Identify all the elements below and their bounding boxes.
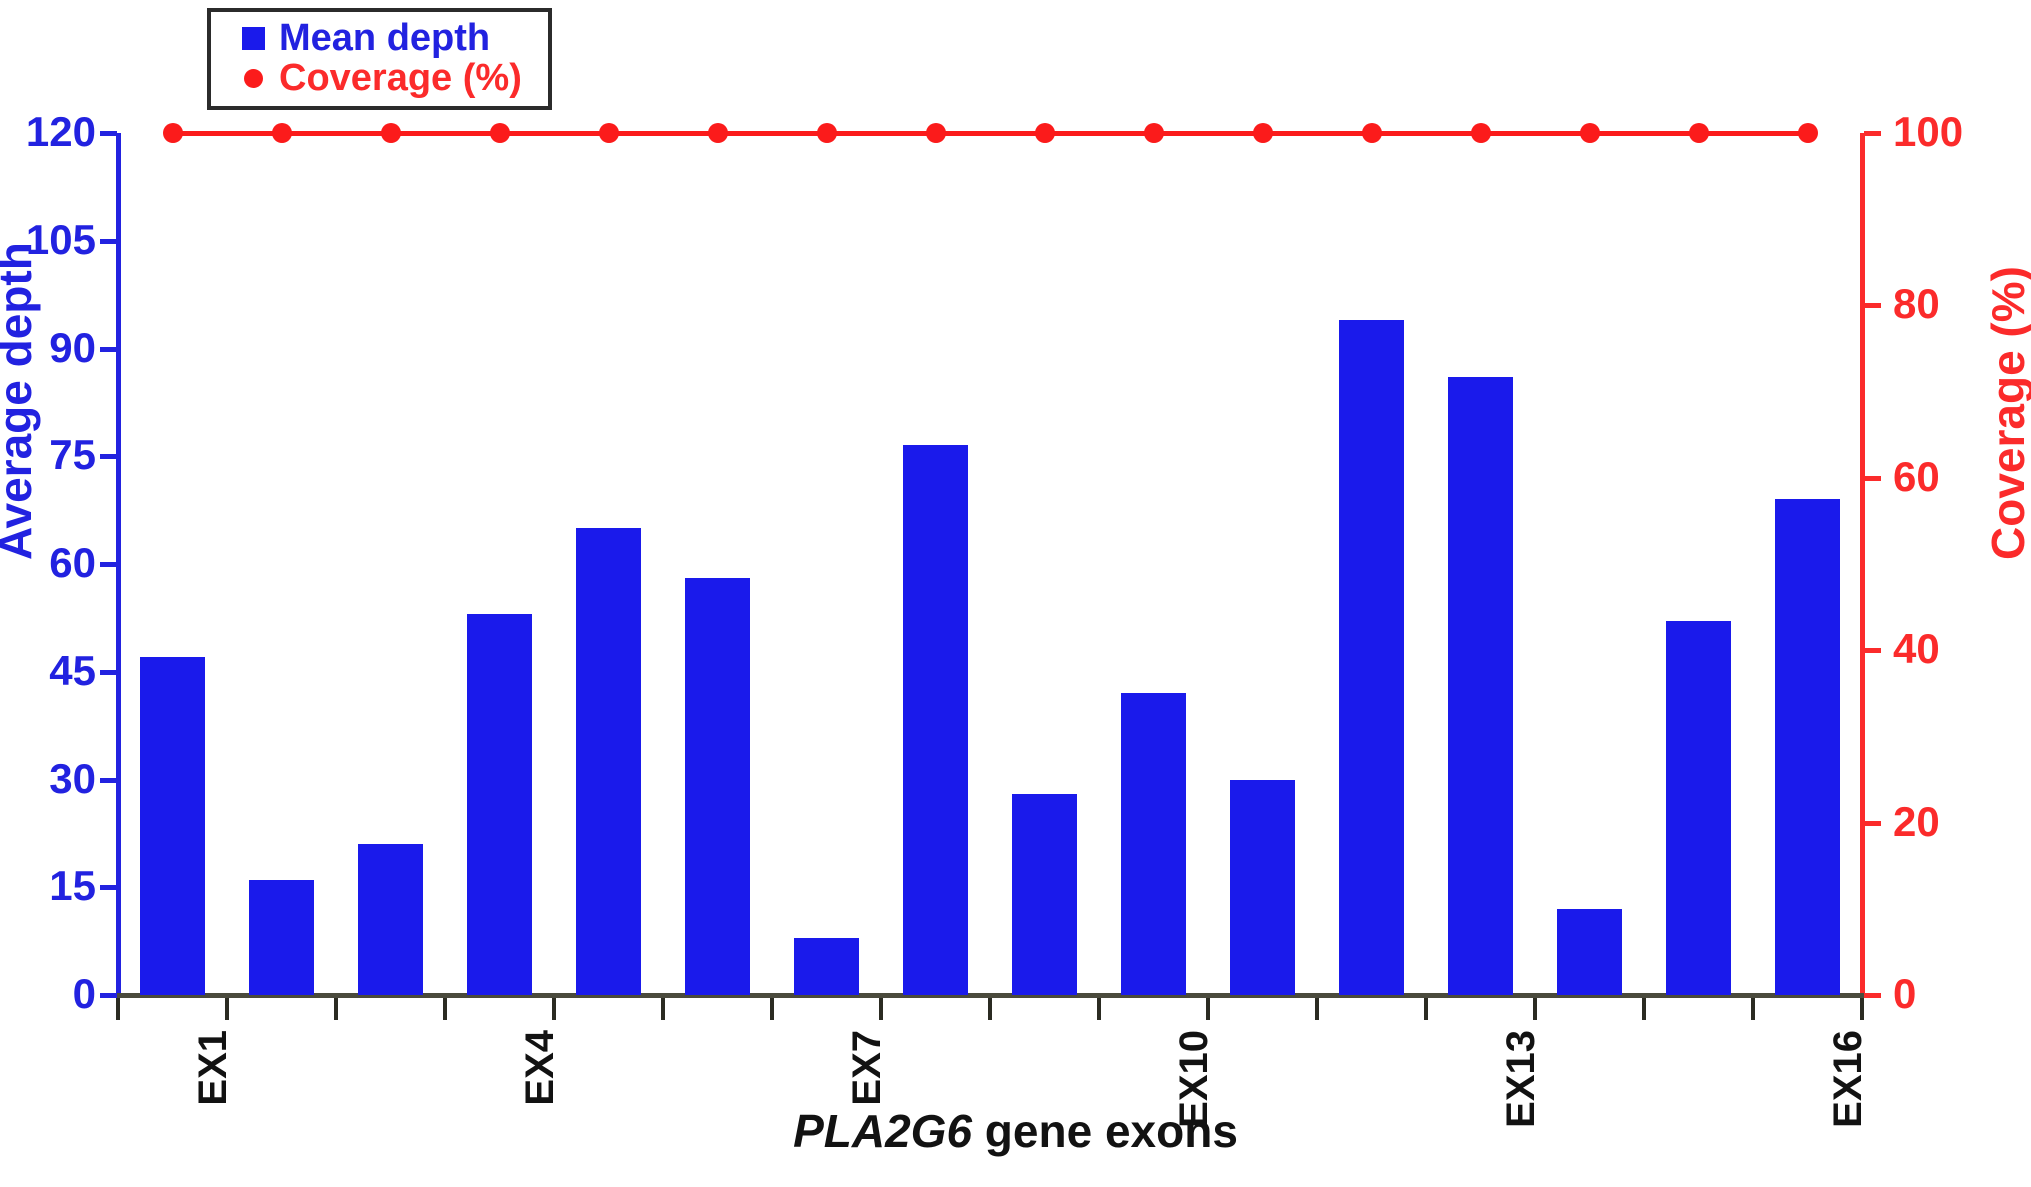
left-axis-tick — [100, 454, 117, 459]
left-axis-tick-label: 30 — [0, 758, 96, 800]
bar — [249, 880, 314, 995]
coverage-data-point — [708, 123, 728, 143]
coverage-data-point — [1362, 123, 1382, 143]
right-axis-tick — [1864, 821, 1881, 826]
x-axis-tick-label: EX4 — [520, 1030, 560, 1106]
bar — [1121, 693, 1186, 995]
right-axis-tick — [1864, 303, 1881, 308]
coverage-data-point — [272, 123, 292, 143]
coverage-line-segment — [1263, 131, 1372, 136]
bar — [1339, 320, 1404, 995]
left-axis-tick — [100, 131, 117, 136]
coverage-data-point — [1798, 123, 1818, 143]
bar — [1557, 909, 1622, 995]
x-axis-tick-label: EX1 — [193, 1030, 233, 1106]
left-axis-tick — [100, 993, 117, 998]
x-axis-tick — [225, 998, 229, 1020]
left-axis-tick-label: 0 — [0, 973, 96, 1015]
coverage-line-segment — [1481, 131, 1590, 136]
coverage-line-segment — [282, 131, 391, 136]
right-axis-tick-label: 80 — [1893, 283, 1940, 325]
bar — [1775, 499, 1840, 995]
coverage-line-segment — [173, 131, 282, 136]
x-axis-title-gene: PLA2G6 — [793, 1105, 972, 1157]
left-axis-tick-label: 120 — [0, 111, 96, 153]
legend-label-coverage: Coverage (%) — [279, 59, 522, 97]
chart-figure: Mean depth Coverage (%) 0153045607590105… — [0, 0, 2031, 1187]
right-axis-title: Coverage (%) — [1985, 266, 2031, 560]
x-axis-tick — [1424, 998, 1428, 1020]
coverage-data-point — [163, 123, 183, 143]
bar — [467, 614, 532, 995]
coverage-data-point — [817, 123, 837, 143]
x-axis-tick — [1206, 998, 1210, 1020]
legend-label-mean-depth: Mean depth — [279, 19, 490, 57]
bar — [1230, 780, 1295, 996]
right-axis-tick-label: 40 — [1893, 628, 1940, 670]
coverage-data-point — [599, 123, 619, 143]
coverage-data-point — [1144, 123, 1164, 143]
left-axis-tick — [100, 778, 117, 783]
bar — [358, 844, 423, 995]
right-axis-tick — [1864, 131, 1881, 136]
x-axis-tick — [1315, 998, 1319, 1020]
bar — [140, 657, 205, 995]
legend-item-mean-depth: Mean depth — [227, 18, 522, 58]
bar — [576, 528, 641, 995]
coverage-line-segment — [1045, 131, 1154, 136]
x-axis-tick — [443, 998, 447, 1020]
bar — [794, 938, 859, 995]
legend-item-coverage: Coverage (%) — [227, 58, 522, 98]
x-axis-tick — [1097, 998, 1101, 1020]
bar — [1666, 621, 1731, 995]
x-axis-tick — [552, 998, 556, 1020]
right-axis-tick — [1864, 648, 1881, 653]
coverage-line-segment — [500, 131, 609, 136]
left-axis-tick — [100, 239, 117, 244]
coverage-line-segment — [936, 131, 1045, 136]
bar — [685, 578, 750, 995]
coverage-line-segment — [827, 131, 936, 136]
coverage-line-segment — [1372, 131, 1481, 136]
right-axis-tick-label: 0 — [1893, 973, 1916, 1015]
square-marker-icon — [227, 27, 279, 50]
x-axis-tick — [879, 998, 883, 1020]
coverage-data-point — [926, 123, 946, 143]
coverage-line-segment — [1590, 131, 1699, 136]
right-axis-tick — [1864, 993, 1881, 998]
coverage-data-point — [1689, 123, 1709, 143]
coverage-data-point — [1253, 123, 1273, 143]
bar — [903, 445, 968, 995]
coverage-data-point — [1035, 123, 1055, 143]
x-axis-tick-label: EX7 — [847, 1030, 887, 1106]
bar — [1448, 377, 1513, 995]
x-axis-tick — [988, 998, 992, 1020]
coverage-line-segment — [718, 131, 827, 136]
coverage-line-segment — [1699, 131, 1808, 136]
x-axis-tick — [661, 998, 665, 1020]
coverage-data-point — [381, 123, 401, 143]
x-axis-tick — [770, 998, 774, 1020]
left-axis-tick — [100, 562, 117, 567]
coverage-data-point — [1580, 123, 1600, 143]
circle-marker-icon — [227, 69, 279, 88]
left-axis-tick — [100, 670, 117, 675]
x-axis-tick — [1642, 998, 1646, 1020]
left-axis-tick — [100, 885, 117, 890]
x-axis-title: PLA2G6 gene exons — [0, 1108, 2031, 1154]
coverage-data-point — [490, 123, 510, 143]
left-axis-tick-label: 45 — [0, 650, 96, 692]
x-axis-tick — [1860, 998, 1864, 1020]
coverage-line-segment — [609, 131, 718, 136]
coverage-data-point — [1471, 123, 1491, 143]
coverage-line-segment — [391, 131, 500, 136]
plot-area — [118, 133, 1862, 995]
right-axis-tick-label: 20 — [1893, 801, 1940, 843]
left-axis-tick — [100, 347, 117, 352]
right-axis-tick — [1864, 476, 1881, 481]
right-axis-tick-label: 100 — [1893, 111, 1963, 153]
left-axis-tick-label: 15 — [0, 865, 96, 907]
chart-legend: Mean depth Coverage (%) — [207, 8, 552, 110]
bar — [1012, 794, 1077, 995]
coverage-line-segment — [1154, 131, 1263, 136]
x-axis-title-rest: gene exons — [972, 1105, 1238, 1157]
x-axis-tick — [334, 998, 338, 1020]
left-axis-title: Average depth — [0, 242, 38, 560]
right-axis-tick-label: 60 — [1893, 456, 1940, 498]
x-axis-tick — [1751, 998, 1755, 1020]
x-axis-tick — [1533, 998, 1537, 1020]
x-axis-tick — [116, 998, 120, 1020]
